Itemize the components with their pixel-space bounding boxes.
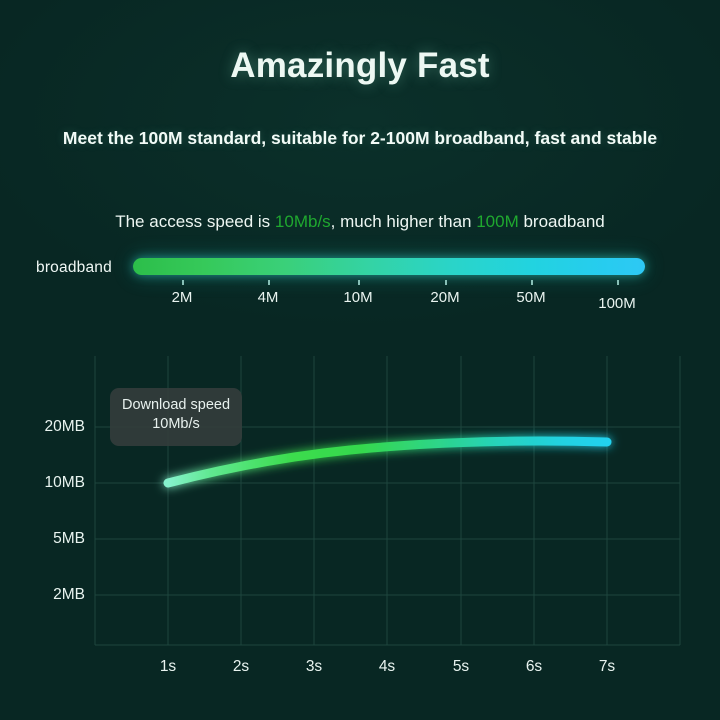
tagline-part-1: The access speed is — [115, 212, 275, 231]
meter-tick-label: 2M — [172, 289, 193, 306]
tagline-highlight-speed: 10Mb/s — [275, 212, 331, 231]
broadband-meter-label: broadband — [36, 259, 112, 277]
broadband-meter-tick-labels: 2M4M10M20M50M100M — [0, 289, 720, 311]
page-title: Amazingly Fast — [0, 46, 720, 86]
access-speed-tagline: The access speed is 10Mb/s, much higher … — [0, 212, 720, 232]
tooltip-line-2: 10Mb/s — [110, 415, 242, 434]
meter-tick — [358, 280, 360, 285]
meter-tick — [182, 280, 184, 285]
broadband-meter-bar — [133, 258, 645, 275]
meter-tick — [531, 280, 533, 285]
broadband-meter-ticks — [0, 280, 720, 288]
tagline-part-2: , much higher than — [331, 212, 477, 231]
meter-tick-label: 4M — [258, 289, 279, 306]
chart-canvas — [0, 340, 720, 688]
meter-tick-label: 10M — [343, 289, 372, 306]
download-speed-chart: 20MB10MB5MB2MB 1s2s3s4s5s6s7s Download s… — [0, 340, 720, 688]
tooltip-line-1: Download speed — [110, 396, 242, 415]
meter-tick — [617, 280, 619, 285]
meter-tick — [445, 280, 447, 285]
page-subtitle: Meet the 100M standard, suitable for 2-1… — [0, 128, 720, 149]
tagline-highlight-bandwidth: 100M — [476, 212, 519, 231]
promo-page: Amazingly Fast Meet the 100M standard, s… — [0, 0, 720, 720]
meter-tick — [268, 280, 270, 285]
meter-tick-label: 20M — [430, 289, 459, 306]
meter-tick-label: 100M — [598, 295, 636, 312]
download-speed-tooltip: Download speed 10Mb/s — [110, 388, 242, 446]
meter-tick-label: 50M — [516, 289, 545, 306]
broadband-meter: broadband 2M4M10M20M50M100M — [0, 258, 720, 318]
tagline-part-3: broadband — [519, 212, 605, 231]
